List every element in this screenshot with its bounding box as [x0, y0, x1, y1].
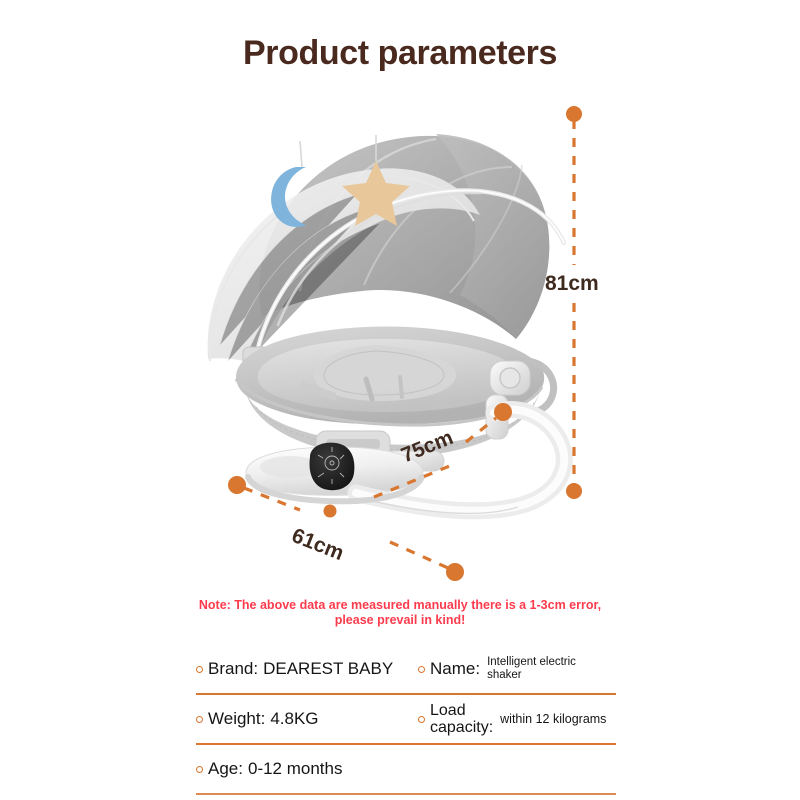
bullet-icon: [196, 716, 203, 723]
spec-key-load-capacity: Load capacity:: [430, 702, 493, 736]
bullet-icon: [196, 666, 203, 673]
dimension-endpoint-right: [446, 563, 464, 581]
control-panel: [310, 443, 355, 491]
note-line-1: Note: The above data are measured manual…: [199, 598, 601, 612]
product-image: [150, 95, 610, 555]
bullet-icon: [418, 716, 425, 723]
spec-key-weight: Weight:: [208, 710, 265, 728]
table-row: Age: 0-12 months: [196, 745, 616, 795]
spec-cell-weight: Weight: 4.8KG: [196, 709, 418, 729]
product-parameters-page: Product parameters: [0, 0, 800, 800]
spec-value-load-capacity: within 12 kilograms: [500, 712, 606, 726]
spec-cell-load-capacity: Load capacity: within 12 kilograms: [418, 702, 616, 736]
spec-value-age: 0-12 months: [248, 759, 343, 779]
bullet-icon: [418, 666, 425, 673]
spec-value-weight: 4.8KG: [270, 709, 318, 729]
table-row: Brand: DEAREST BABY Name: Intelligent el…: [196, 645, 616, 695]
spec-value-brand: DEAREST BABY: [263, 659, 393, 679]
measurement-note: Note: The above data are measured manual…: [150, 598, 650, 628]
bullet-icon: [196, 766, 203, 773]
note-line-2: please prevail in kind!: [150, 613, 650, 628]
spec-value-name: Intelligent electric shaker: [487, 656, 607, 682]
page-title: Product parameters: [0, 34, 800, 73]
spec-cell-brand: Brand: DEAREST BABY: [196, 659, 418, 679]
spec-cell-age: Age: 0-12 months: [196, 759, 418, 779]
specification-table: Brand: DEAREST BABY Name: Intelligent el…: [196, 645, 616, 795]
spec-key-name: Name:: [430, 660, 480, 678]
spec-cell-name: Name: Intelligent electric shaker: [418, 656, 616, 682]
spec-key-brand: Brand:: [208, 660, 258, 678]
table-row: Weight: 4.8KG Load capacity: within 12 k…: [196, 695, 616, 745]
spec-key-age: Age:: [208, 760, 243, 778]
